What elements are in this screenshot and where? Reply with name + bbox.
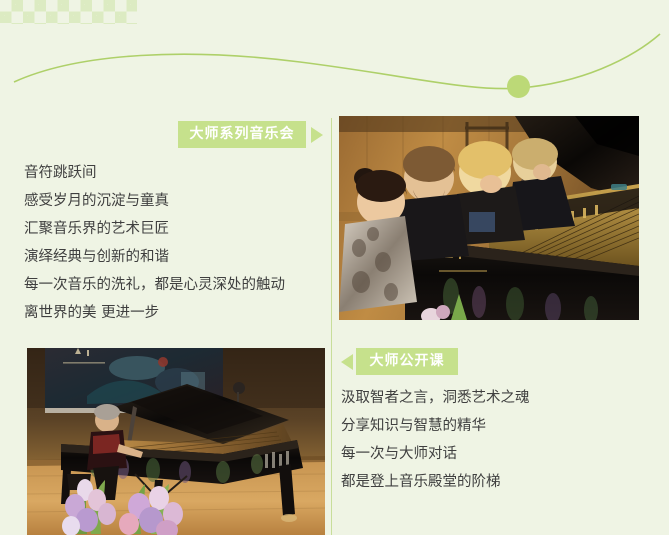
poster-page: 大师系列音乐会 音符跳跃间 感受岁月的沉淀与童真 汇聚音乐界的艺术巨匠 演绎经典…: [0, 0, 669, 535]
triangle-left-icon: [341, 354, 353, 370]
copy-line: 演绎经典与创新的和谐: [24, 247, 324, 268]
checkerboard-decoration: [0, 0, 137, 24]
copy-master-series: 音符跳跃间 感受岁月的沉淀与童真 汇聚音乐界的艺术巨匠 演绎经典与创新的和谐 每…: [24, 163, 324, 331]
copy-master-class: 汲取智者之言，洞悉艺术之魂 分享知识与智慧的精华 每一次与大师对话 都是登上音乐…: [341, 388, 641, 500]
copy-line: 分享知识与智慧的精华: [341, 416, 641, 437]
copy-line: 汇聚音乐界的艺术巨匠: [24, 219, 324, 240]
green-dot-decoration: [507, 75, 530, 98]
photo-master-series: [339, 116, 639, 320]
copy-line: 汲取智者之言，洞悉艺术之魂: [341, 388, 641, 409]
copy-line: 感受岁月的沉淀与童真: [24, 191, 324, 212]
copy-line: 都是登上音乐殿堂的阶梯: [341, 472, 641, 493]
copy-line: 每一次与大师对话: [341, 444, 641, 465]
copy-line: 离世界的美 更进一步: [24, 303, 324, 324]
photo-master-class: [27, 348, 325, 535]
triangle-right-icon: [311, 127, 323, 143]
copy-line: 每一次音乐的洗礼，都是心灵深处的触动: [24, 275, 324, 296]
badge-master-series: 大师系列音乐会: [178, 121, 306, 148]
wave-line-decoration: [0, 30, 669, 110]
copy-line: 音符跳跃间: [24, 163, 324, 184]
badge-master-class: 大师公开课: [356, 348, 458, 375]
vertical-divider: [331, 118, 332, 535]
